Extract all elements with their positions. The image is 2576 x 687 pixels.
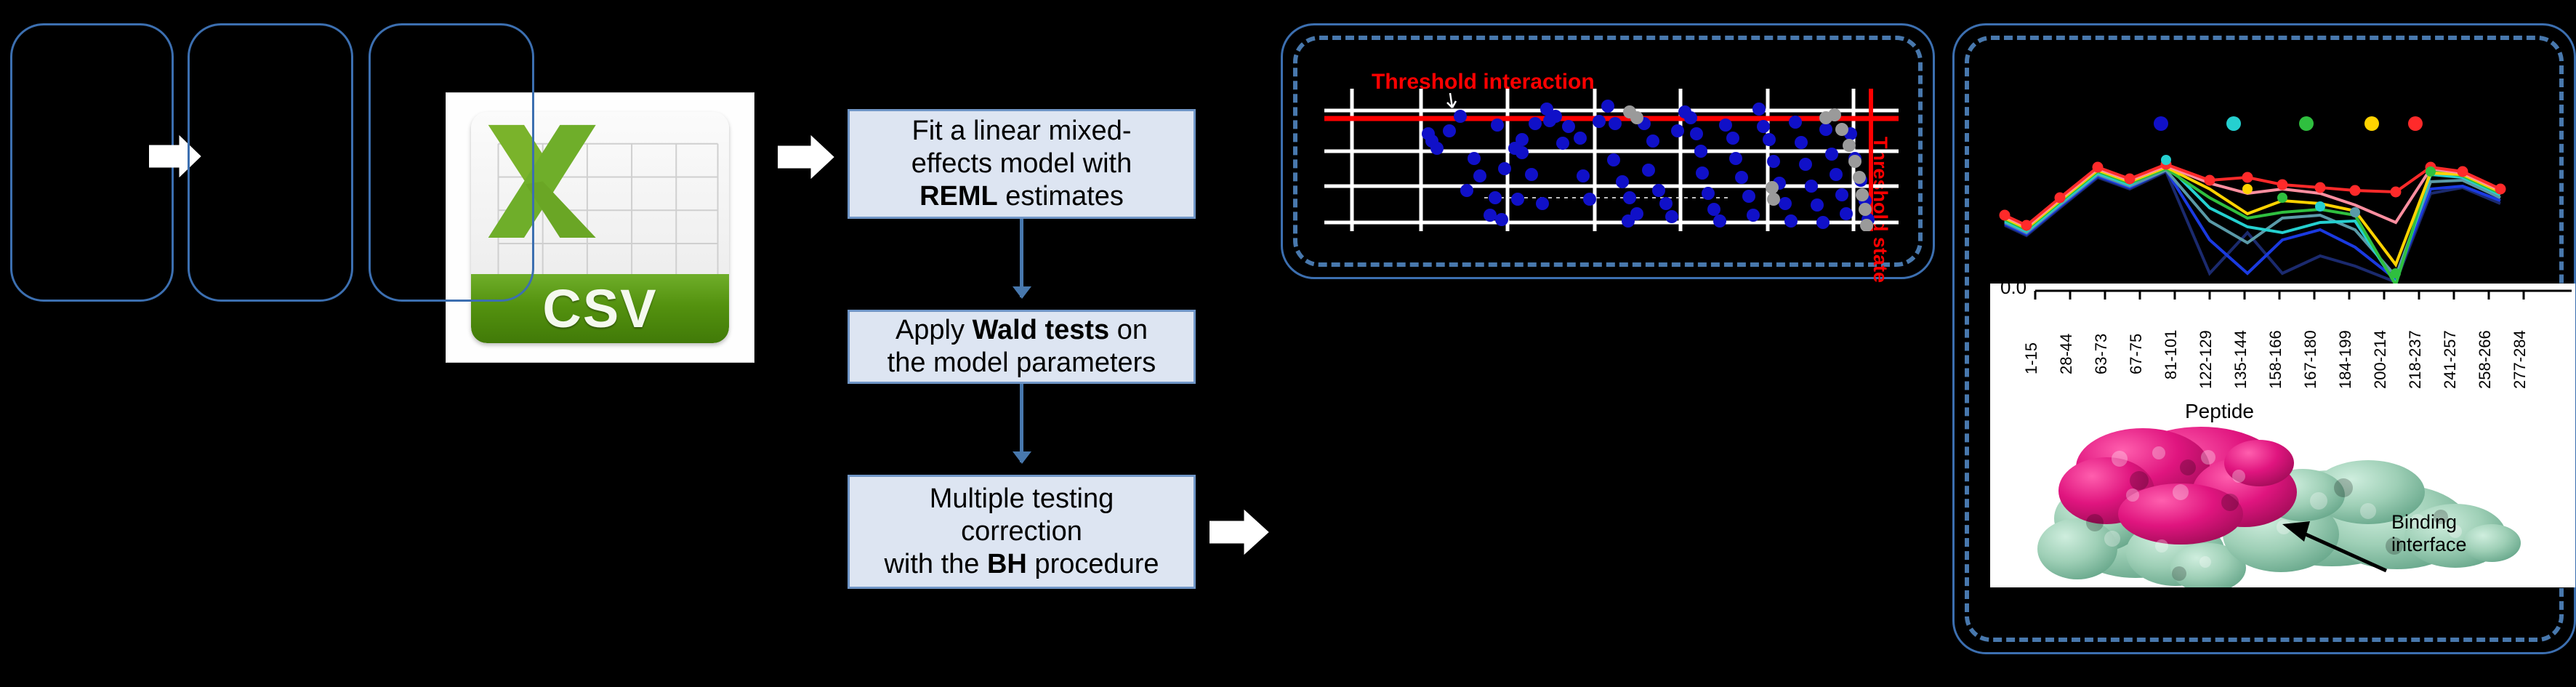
legend-dot-red: [2408, 116, 2423, 131]
connector-box1-box2: [1020, 219, 1023, 297]
tick-label-11: 218-237: [2406, 330, 2425, 389]
legend-dot-blue: [2154, 116, 2168, 131]
tick-label-8: 167-180: [2301, 330, 2320, 389]
process-box-multiple-testing: Multiple testing correction with the BH …: [848, 475, 1196, 589]
wald-pre: Apply: [895, 315, 973, 345]
tick-label-6: 135-144: [2231, 330, 2250, 389]
analysis-panel: [369, 23, 534, 302]
peptide-profile-chart: [1992, 131, 2573, 287]
binding-line1: Binding: [2391, 511, 2457, 533]
legend-dot-green: [2299, 116, 2314, 131]
profile-legend-dots: [1992, 109, 2573, 138]
profile-figure-card: 1-15 28-44 63-73 67-75 81-101 122-129 13…: [1990, 284, 2575, 587]
tick-label-3: 67-75: [2127, 334, 2146, 374]
bh-line2: correction: [961, 516, 1082, 547]
scatter-plot-svg: [1324, 89, 1899, 231]
process-box-fit-model: Fit a linear mixed- effects model with R…: [848, 109, 1196, 219]
y-axis-label: 0.0: [2000, 284, 2026, 299]
fit-model-line2: effects model with: [911, 148, 1132, 179]
binding-line2: interface: [2391, 534, 2467, 555]
input-panel-2: [188, 23, 353, 302]
connector-box2-box3: [1020, 384, 1023, 462]
wald-line2: the model parameters: [887, 347, 1156, 378]
tick-label-14: 277-284: [2511, 330, 2529, 389]
tick-label-10: 200-214: [2371, 330, 2390, 389]
fit-model-line1: Fit a linear mixed-: [912, 116, 1132, 146]
binding-interface-annotation: Binding interface: [2391, 511, 2467, 556]
process-box-wald-tests: Apply Wald tests on the model parameters: [848, 310, 1196, 384]
fit-model-line3-rest: estimates: [998, 181, 1124, 212]
csv-label: CSV: [542, 278, 657, 340]
x-axis-title: Peptide: [2185, 400, 2254, 423]
arrow-model-to-results: [1209, 509, 1269, 555]
tick-label-5: 122-129: [2197, 330, 2215, 389]
wald-post: on: [1109, 315, 1148, 345]
tick-label-12: 241-257: [2441, 330, 2460, 389]
fit-model-reml: REML: [919, 181, 998, 212]
wald-bold: Wald tests: [973, 315, 1110, 345]
tick-label-7: 158-166: [2266, 330, 2285, 389]
protein-structure-image: Binding interface: [1990, 425, 2575, 587]
tick-label-9: 184-199: [2336, 330, 2355, 389]
tick-label-1: 28-44: [2057, 334, 2076, 374]
bh-bold: BH: [987, 549, 1027, 579]
tick-label-4: 81-101: [2162, 329, 2181, 379]
tick-label-2: 63-73: [2092, 334, 2111, 374]
arrow-csv-to-model: [778, 134, 834, 180]
tick-label-13: 258-266: [2476, 330, 2495, 389]
legend-dot-cyan: [2226, 116, 2241, 131]
bh-line1: Multiple testing: [930, 483, 1114, 514]
tick-label-0: 1-15: [2022, 342, 2041, 374]
protein-surface-svg: [1990, 425, 2575, 587]
bh-line3-post: procedure: [1027, 549, 1159, 579]
legend-dot-yellow: [2364, 116, 2379, 131]
figure-canvas: CSV Fit a linear mixed- effects model wi…: [0, 0, 2576, 687]
profile-axis: [1990, 284, 2575, 313]
bh-line3-pre: with the: [884, 549, 987, 579]
